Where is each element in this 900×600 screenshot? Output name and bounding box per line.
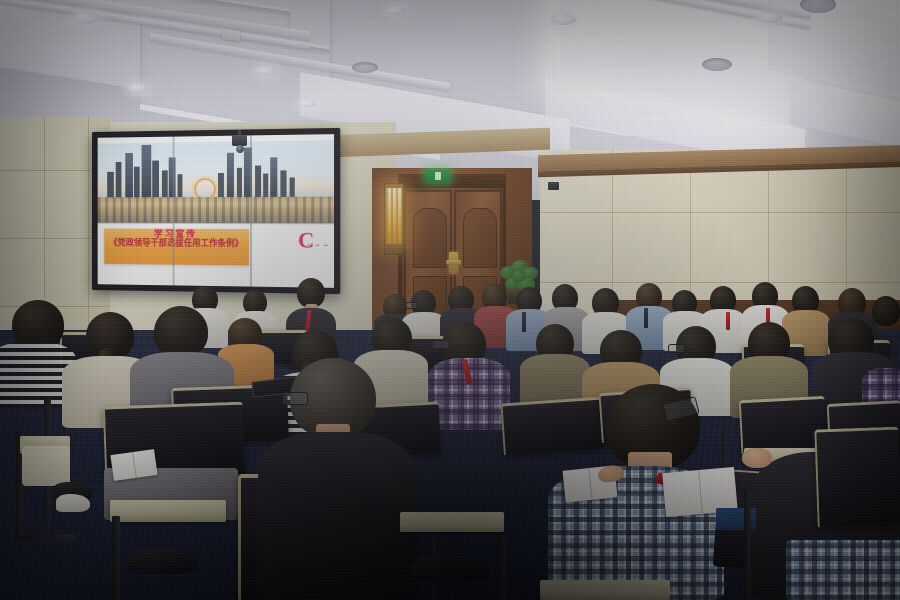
slide-skyline-photo [98,140,334,223]
shoe [412,554,490,582]
wall-speaker-icon [548,182,559,190]
downlight-icon-7 [300,100,316,107]
door-transom [398,174,506,188]
hand [742,448,772,468]
seat-cushion[interactable] [110,500,226,522]
person-body-overlay [258,436,414,600]
slide-title-banner: 学习宣传 《党政领导干部选拔任用工作条例》 [104,229,248,266]
shoe [56,494,90,512]
shoe [126,548,198,574]
slide-water-shimmer [98,197,334,224]
video-wall-display-area: 学习宣传 《党政领导干部选拔任用工作条例》 C [98,134,334,288]
person-legs [22,446,70,486]
slide-logo-mark: C [298,229,314,252]
person-body-plaid [786,540,900,600]
slide-title-line-2: 《党政领导干部选拔任用工作条例》 [108,239,245,250]
glasses-icon [405,302,418,309]
glasses-icon [668,344,685,353]
glasses-icon [432,340,450,349]
video-wall-bezel-h1 [98,221,334,224]
exit-sign [426,170,450,182]
video-wall-bezel-v2 [250,135,252,286]
downlight-icon-6 [386,6,406,15]
ceiling-vent-icon-3 [352,62,378,73]
seat-leg [112,516,120,600]
glasses-icon [282,392,308,405]
auditorium-seat[interactable] [814,427,900,528]
lanyard [522,312,526,332]
seat-cushion[interactable] [400,512,504,532]
ceiling-vent-icon-2 [702,58,732,71]
downlight-icon-2 [255,66,277,76]
slide-dashed-rule [307,245,329,246]
downlight-icon-1 [72,12,100,24]
person-head [154,306,208,358]
downlight-icon-3 [128,84,148,93]
seat-cushion[interactable] [540,580,670,600]
wall-sconce-grille [386,188,402,244]
auditorium-seat[interactable] [500,397,603,456]
exit-running-man-icon [435,172,441,180]
seat-base-rail [14,534,76,541]
video-wall-bezel-v1 [173,137,175,286]
person-head [872,296,900,326]
lanyard [644,308,648,328]
lanyard [726,312,730,330]
conference-room-photo: 学习宣传 《党政领导干部选拔任用工作条例》 C EXIT [0,0,900,600]
led-video-wall[interactable]: 学习宣传 《党政领导干部选拔任用工作条例》 C [92,128,340,294]
downlight-icon-5 [757,12,783,23]
downlight-icon-4 [550,14,576,25]
seat-leg [744,490,751,600]
camera-lens-icon [236,145,244,153]
door-handle-plate[interactable] [446,260,461,265]
